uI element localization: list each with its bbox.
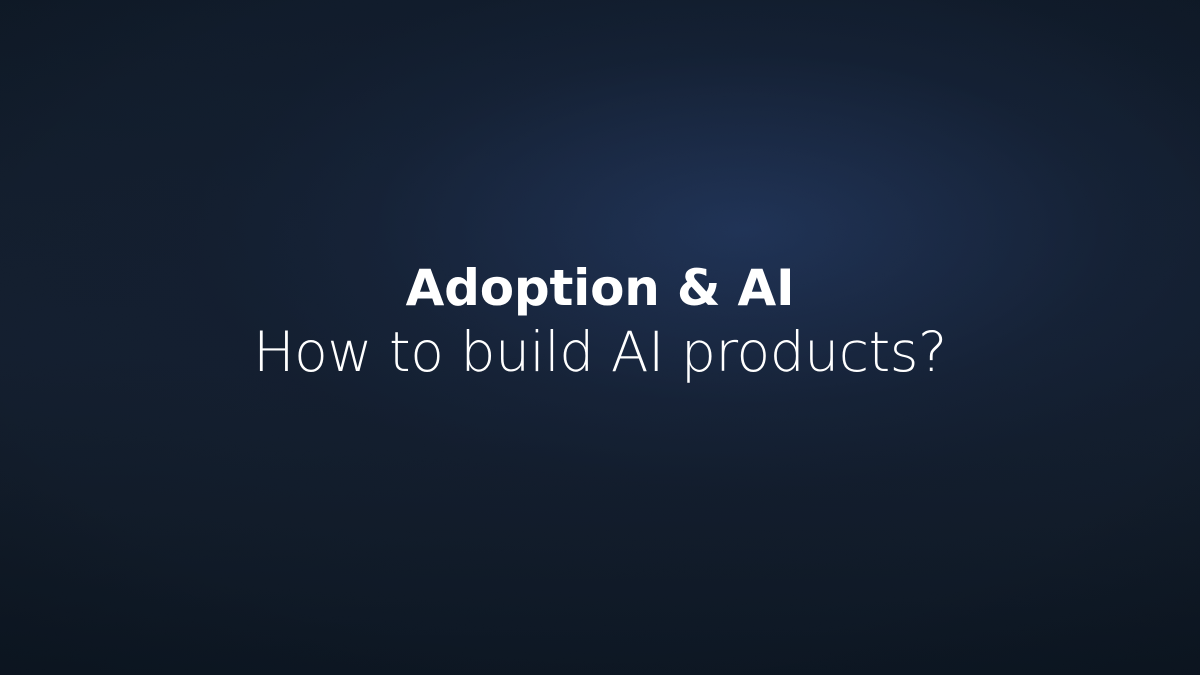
slide-subtitle: How to build AI products? (253, 323, 947, 382)
slide-text-block: Adoption & AI How to build AI products? (0, 262, 1200, 382)
slide-title: Adoption & AI (406, 262, 795, 314)
title-slide: Adoption & AI How to build AI products? (0, 0, 1200, 675)
